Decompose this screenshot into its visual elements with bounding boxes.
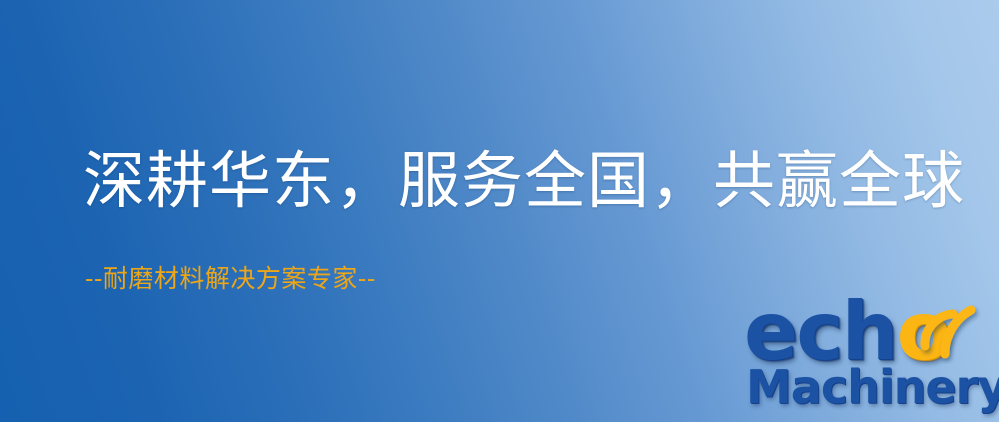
logo-tagline: Machinery®: [746, 364, 999, 410]
logo-tagline-text: Machinery: [746, 360, 999, 414]
echo-machinery-logo[interactable]: echo Machinery®: [744, 296, 999, 422]
banner-headline: 深耕华东，服务全国，共赢全球: [83, 150, 943, 212]
signal-arcs-icon: [919, 294, 999, 364]
hero-banner: 深耕华东，服务全国，共赢全球 --耐磨材料解决方案专家-- echo Machi…: [0, 0, 999, 422]
banner-subtitle: --耐磨材料解决方案专家--: [85, 266, 376, 291]
